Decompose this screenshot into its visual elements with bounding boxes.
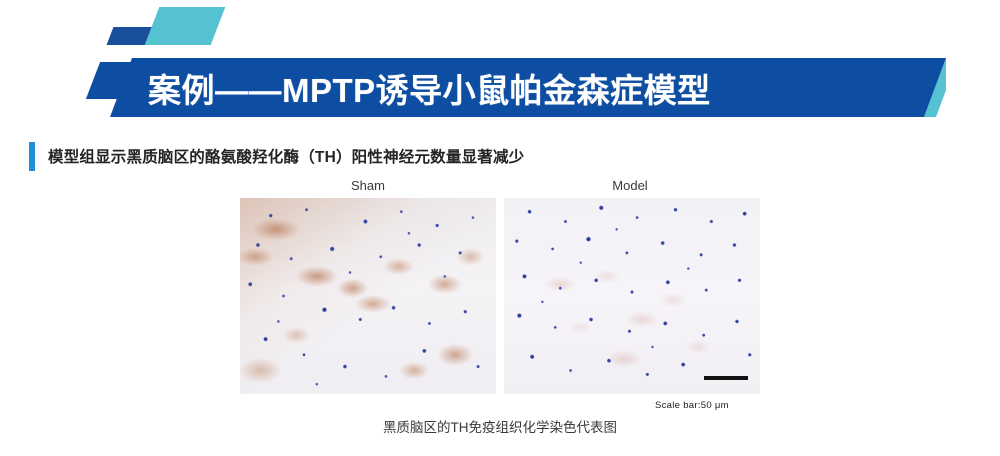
micrograph-sham-nuclei-layer [240,198,496,394]
micrograph-image-sham [240,198,496,394]
micrograph-model-nuclei-layer [504,198,760,394]
subtitle-accent-bar [29,142,35,171]
subtitle-row: 模型组显示黑质脑区的酪氨酸羟化酶（TH）阳性神经元数量显著减少 [29,141,524,171]
header-banner: 案例——MPTP诱导小鼠帕金森症模型 [0,0,1000,128]
scale-bar-label: Scale bar:50 μm [655,400,729,411]
panel-label-model: Model [570,178,690,193]
title-banner-bar: 案例——MPTP诱导小鼠帕金森症模型 [110,58,946,117]
decorative-parallelogram-teal [145,7,226,45]
page-title: 案例——MPTP诱导小鼠帕金森症模型 [148,58,711,117]
figure-area: Sham Model Scale bar:50 μm 黑质脑区的TH免疫组织化学… [240,178,760,433]
micrograph-panels [240,198,760,394]
panel-label-row: Sham Model [240,178,760,198]
scale-bar-line [704,376,748,380]
micrograph-image-model [504,198,760,394]
subtitle-text: 模型组显示黑质脑区的酪氨酸羟化酶（TH）阳性神经元数量显著减少 [48,145,524,167]
figure-caption: 黑质脑区的TH免疫组织化学染色代表图 [240,416,760,436]
panel-label-sham: Sham [308,178,428,193]
